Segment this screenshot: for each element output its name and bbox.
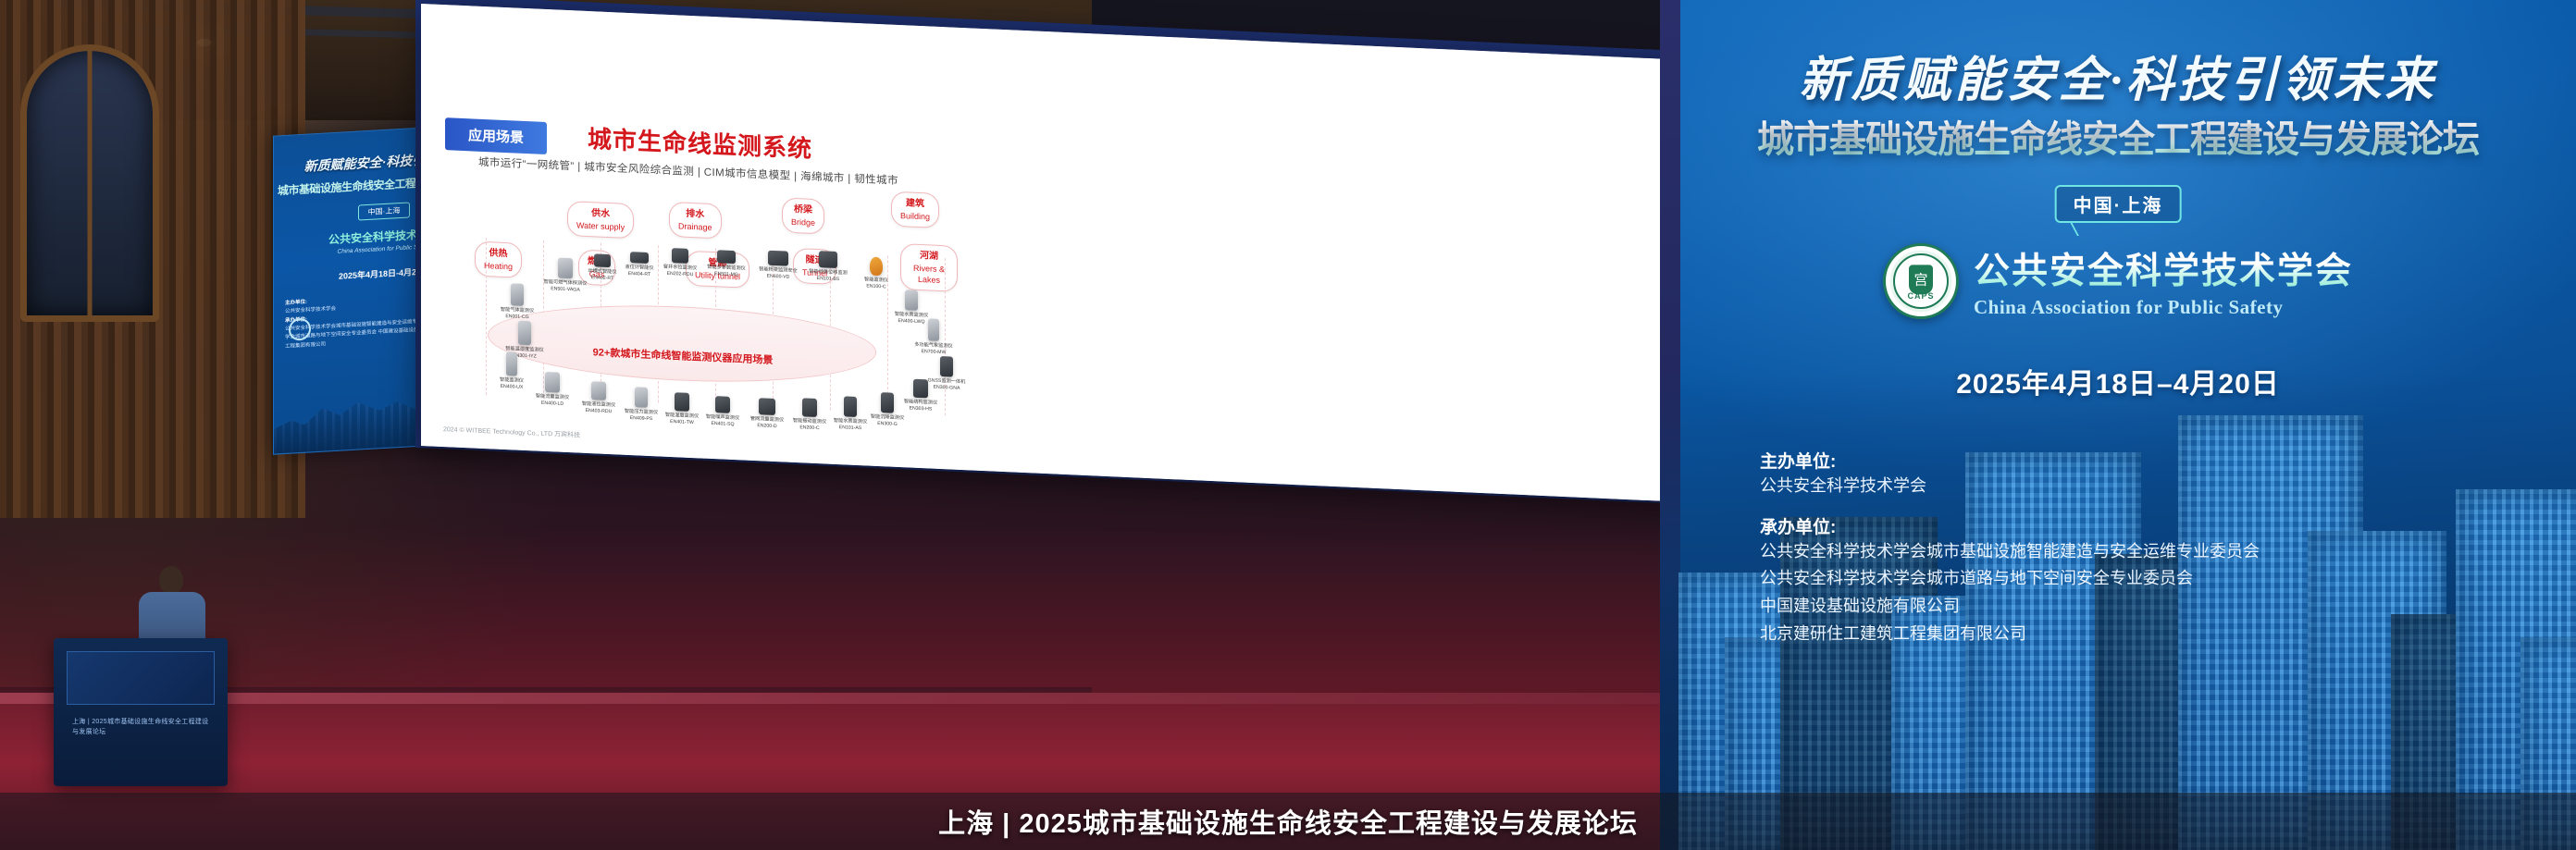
device-item: 智能水质监测仪 EN400-LWQ [885, 289, 937, 326]
backdrop-calligraphy: 新质赋能安全·科技引领未来 [1660, 41, 2576, 110]
device-icon [675, 392, 689, 412]
category-pill: 桥梁Bridge [782, 197, 824, 234]
category-pill: 供水Water supply [567, 201, 634, 239]
device-item: 智能桥梁监测安全 EN600-VD [752, 250, 804, 282]
association-text: 公共安全科学技术学会 China Association for Public … [1974, 242, 2353, 319]
device-label: 智能多参数监测仪 EN501-MG [700, 264, 752, 279]
device-label: 智能结构监测仪 EN303-HS [895, 399, 947, 414]
category-label-en: Building [900, 211, 930, 221]
conference-backdrop: 新质赋能安全·科技引领未来 城市基础设施生命线安全工程建设与发展论坛 中国·上海… [1660, 0, 2576, 850]
category-label-cn: 供水 [576, 206, 625, 221]
device-item: 窨井水位监测仪 EN202-RDU [654, 247, 706, 279]
device-icon [506, 351, 517, 376]
category-label-en: Water supply [576, 220, 625, 231]
caption-text: 上海 | 2025城市基础设施生命线安全工程建设与发展论坛 [938, 802, 1638, 841]
category-label-en: Drainage [678, 221, 712, 232]
device-icon [545, 372, 560, 393]
emblem-acronym: CAPS [1886, 291, 1956, 301]
device-label: 智能沉降监测仪 EN300-G [861, 413, 913, 429]
slide-title: 城市生命线监测系统 [588, 120, 812, 165]
conference-date: 2025年4月18日–4月20日 [1660, 361, 2576, 401]
device-icon [518, 321, 531, 346]
screenshot-root: 上海 | 2025城市基础设施生命线安全工程建设与发展论坛 新质赋能安全·科技引… [0, 0, 2576, 850]
device-label: 智能水质监测仪 EN400-LWQ [885, 311, 937, 326]
device-label: 多功能气象监测仪 EN700-MW [908, 341, 960, 357]
device-item: GNSS监测一体机 EN300-GNA [921, 355, 972, 393]
device-icon [591, 381, 606, 400]
category-pill: 排水Drainage [669, 202, 722, 239]
device-icon [881, 392, 894, 413]
host-label: 主办单位: [1760, 448, 2539, 473]
device-icon [759, 398, 775, 415]
coorganizer-name: 北京建研住工建筑工程集团有限公司 [1760, 621, 2539, 648]
caps-emblem-icon: 宫 CAPS [1883, 243, 1959, 319]
slide-footer-copyright: 2024 © WITBEE Technology Co., LTD 万宾科技 [443, 425, 580, 440]
arched-window [20, 44, 159, 322]
device-label: GNSS监测一体机 EN300-GNA [921, 377, 972, 393]
device-icon [558, 258, 573, 279]
backdrop-forum-title: 城市基础设施生命线安全工程建设与发展论坛 [1660, 109, 2576, 163]
device-icon [717, 250, 736, 264]
device-icon [635, 387, 648, 408]
device-icon [905, 289, 918, 311]
association-row: 宫 CAPS 公共安全科学技术学会 China Association for … [1660, 242, 2576, 319]
coorganizer-name: 中国建设基础设施有限公司 [1760, 593, 2539, 621]
device-label: 智能桥梁监测安全 EN600-VD [752, 266, 804, 282]
device-label: 智能倾角位移监测 EN101-BS [802, 268, 854, 284]
device-item: 智能流量监测仪 EN400-LD [526, 371, 578, 409]
mini-host-name: 公共安全科学技术学会 [285, 306, 336, 314]
device-item: 智能倾角位移监测 EN101-BS [802, 250, 854, 284]
slide-section-tab: 应用场景 [445, 117, 547, 154]
category-label-cn: 桥梁 [791, 203, 815, 217]
coorganizer-name: 公共安全科学技术学会城市道路与地下空间安全专业委员会 [1760, 565, 2539, 593]
association-name-cn: 公共安全科学技术学会 [1974, 242, 2353, 294]
device-icon [511, 283, 524, 306]
device-icon [715, 396, 730, 413]
coorganizer-label: 承办单位: [1760, 513, 2539, 538]
coorganizer-name: 公共安全科学技术学会城市基础设施智能建造与安全运维专业委员会 [1760, 538, 2539, 566]
speaker-head [159, 566, 183, 594]
bottom-caption-bar: 上海 | 2025城市基础设施生命线安全工程建设与发展论坛 [0, 793, 2576, 850]
coorganizer-list: 公共安全科学技术学会城市基础设施智能建造与安全运维专业委员会公共安全科学技术学会… [1760, 538, 2539, 648]
device-icon [819, 251, 837, 268]
organizers-block: 主办单位: 公共安全科学技术学会 承办单位: 公共安全科学技术学会城市基础设施智… [1760, 435, 2539, 647]
emblem-shield-icon: 宫 [1909, 265, 1933, 294]
mini-location-badge: 中国·上海 [358, 202, 410, 220]
device-label: 智能流量监测仪 EN400-LD [526, 393, 578, 409]
device-icon [672, 248, 688, 264]
device-label: 窨井水位监测仪 EN202-RDU [654, 264, 706, 279]
association-name-en: China Association for Public Safety [1974, 296, 2353, 319]
device-item: 智能气体监测仪 EN001-CG [491, 282, 543, 322]
device-icon [802, 398, 817, 417]
device-icon [940, 356, 953, 377]
category-label-cn: 建筑 [900, 197, 930, 211]
device-label: 智能可燃气体探测仪 EN501-VAGA [539, 279, 591, 295]
device-icon [630, 252, 649, 264]
host-name: 公共安全科学技术学会 [1760, 473, 2539, 500]
location-badge: 中国·上海 [2055, 185, 2182, 223]
category-label-en: Bridge [791, 216, 815, 227]
device-icon [870, 257, 883, 277]
podium-plate-text: 上海 | 2025城市基础设施生命线安全工程建设与发展论坛 [72, 718, 211, 737]
device-icon [768, 251, 788, 266]
device-icon [594, 253, 611, 267]
podium-screen [67, 651, 215, 705]
category-pill: 建筑Building [891, 191, 939, 228]
device-icon [844, 396, 857, 417]
device-item: 智能多参数监测仪 EN501-MG [700, 249, 752, 279]
category-label-cn: 排水 [678, 207, 712, 221]
device-item: 智能监测仪 EN100-C [850, 256, 902, 292]
podium: 上海 | 2025城市基础设施生命线安全工程建设与发展论坛 [54, 638, 228, 786]
